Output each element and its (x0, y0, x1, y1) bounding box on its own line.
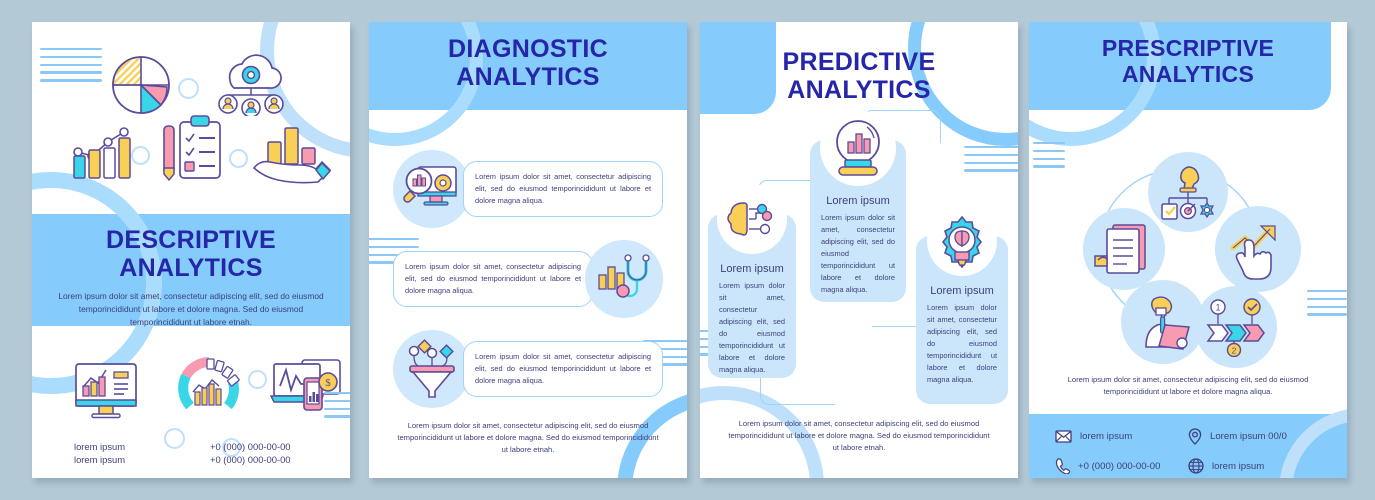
monitor-dashboard-icon (70, 358, 142, 424)
contact-email[interactable]: lorem ipsum (1055, 428, 1188, 445)
panel3-footer-note: Lorem ipsum dolor sit amet, consectetur … (700, 418, 1018, 454)
decorative-ring (248, 370, 267, 389)
panel-descriptive-analytics: DESCRIPTIVE ANALYTICS Lorem ipsum dolor … (32, 22, 350, 478)
panel4-footer-note: Lorem ipsum dolor sit amet, consectetur … (1029, 374, 1347, 398)
gear-brain-bulb-icon (927, 206, 997, 276)
decorative-ring (164, 428, 185, 449)
panel3-title-line1: PREDICTIVE (700, 48, 1018, 76)
donut-chart-icon (176, 356, 242, 422)
line-graph-icon (70, 122, 146, 180)
panel1-footer-left-line1: lorem ipsum (74, 440, 125, 453)
crystal-ball-chart-icon (820, 110, 896, 186)
businessman-presentation-icon (1121, 280, 1205, 364)
predictive-card-2-text: Lorem ipsum dolor sit amet, consectetur … (810, 212, 906, 296)
diagnostic-row-3: Lorem ipsum dolor sit amet, consectetur … (393, 330, 665, 408)
predictive-card-2-heading: Lorem ipsum (826, 195, 890, 207)
contact-address[interactable]: Lorem ipsum 00/0 (1188, 428, 1321, 445)
panel4-title: PRESCRIPTIVE ANALYTICS (1029, 36, 1347, 88)
panel3-title-line2: ANALYTICS (700, 76, 1018, 104)
predictive-card-3: Lorem ipsum Lorem ipsum dolor sit amet, … (916, 236, 1008, 404)
magnifier-monitor-gear-icon (393, 150, 471, 228)
decorative-lines (1307, 290, 1347, 321)
envelope-icon (1055, 430, 1072, 443)
decorative-ring (229, 149, 248, 168)
panel1-footer-right: +0 (000) 000-00-00 +0 (000) 000-00-00 (210, 440, 291, 467)
diagnostic-row-1-text: Lorem ipsum dolor sit amet, consectetur … (463, 161, 663, 217)
decorative-lines (324, 392, 350, 423)
brochure-sheet: DESCRIPTIVE ANALYTICS Lorem ipsum dolor … (0, 0, 1375, 500)
pointing-hand-growth-arrow-icon (1215, 206, 1301, 292)
document-signature-icon (1083, 208, 1165, 290)
contact-website-label: lorem ipsum (1212, 461, 1264, 472)
panel1-footer-right-line2: +0 (000) 000-00-00 (210, 453, 291, 466)
chess-knight-strategy-icon (1148, 152, 1228, 232)
contact-phone-label: +0 (000) 000-00-00 (1078, 461, 1160, 472)
location-pin-icon (1188, 428, 1202, 445)
svg-text:$: $ (325, 377, 331, 389)
decorative-lines (1033, 142, 1065, 173)
panel4-title-line1: PRESCRIPTIVE (1029, 36, 1347, 62)
diagnostic-row-2-text: Lorem ipsum dolor sit amet, consectetur … (393, 251, 593, 307)
panel-predictive-analytics: PREDICTIVE ANALYTICS (700, 22, 1018, 478)
panel1-title-line1: DESCRIPTIVE (32, 226, 350, 254)
panel1-footer-left: lorem ipsum lorem ipsum (74, 440, 125, 467)
globe-icon (1188, 458, 1204, 474)
diagnostic-row-2: Lorem ipsum dolor sit amet, consectetur … (393, 240, 665, 318)
pie-chart-icon (108, 52, 174, 118)
decorative-ring (178, 78, 199, 99)
panel1-footer-left-line2: lorem ipsum (74, 453, 125, 466)
contact-address-label: Lorem ipsum 00/0 (1210, 431, 1287, 442)
svg-text:1: 1 (1215, 303, 1220, 313)
contact-phone[interactable]: +0 (000) 000-00-00 (1055, 458, 1188, 474)
predictive-card-2: Lorem ipsum Lorem ipsum dolor sit amet, … (810, 140, 906, 302)
diagnostic-row-3-text: Lorem ipsum dolor sit amet, consectetur … (463, 341, 663, 397)
hand-bar-chart-icon (250, 122, 332, 184)
panel1-title: DESCRIPTIVE ANALYTICS (32, 226, 350, 282)
panel1-footer-right-line1: +0 (000) 000-00-00 (210, 440, 291, 453)
panel1-lead-paragraph: Lorem ipsum dolor sit amet, consectetur … (32, 290, 350, 329)
contact-email-label: lorem ipsum (1080, 431, 1132, 442)
predictive-card-3-text: Lorem ipsum dolor sit amet, consectetur … (916, 302, 1008, 386)
panel1-title-line2: ANALYTICS (32, 254, 350, 282)
contact-website[interactable]: lorem ipsum (1188, 458, 1321, 474)
predictive-card-1-heading: Lorem ipsum (720, 263, 784, 275)
process-flow-steps-icon: 1 2 (1195, 286, 1277, 368)
stethoscope-chart-icon (585, 240, 663, 318)
clipboard-checklist-icon (158, 112, 224, 184)
panel3-title: PREDICTIVE ANALYTICS (700, 48, 1018, 104)
funnel-filter-icon (393, 330, 471, 408)
panel4-title-line2: ANALYTICS (1029, 62, 1347, 88)
panel2-footer-note: Lorem ipsum dolor sit amet, consectetur … (369, 420, 687, 456)
contact-block: lorem ipsum Lorem ipsum 00/0 +0 (000) 00… (1029, 428, 1347, 474)
diagnostic-row-1: Lorem ipsum dolor sit amet, consectetur … (393, 150, 665, 228)
brain-network-icon (717, 184, 787, 254)
panel2-title: DIAGNOSTIC ANALYTICS (369, 35, 687, 91)
phone-icon (1055, 458, 1070, 474)
panel2-title-line1: DIAGNOSTIC (369, 35, 687, 63)
predictive-card-1-text: Lorem ipsum dolor sit amet, consectetur … (708, 280, 796, 376)
predictive-card-1: Lorem ipsum Lorem ipsum dolor sit amet, … (708, 214, 796, 378)
decorative-lines (964, 146, 1018, 177)
panel-prescriptive-analytics: PRESCRIPTIVE ANALYTICS (1029, 22, 1347, 478)
svg-text:2: 2 (1232, 346, 1237, 356)
cloud-gear-users-icon (210, 50, 286, 116)
predictive-card-3-heading: Lorem ipsum (930, 285, 994, 297)
panel2-title-line2: ANALYTICS (369, 63, 687, 91)
decorative-lines (40, 48, 102, 87)
panel-diagnostic-analytics: DIAGNOSTIC ANALYTICS (369, 22, 687, 478)
